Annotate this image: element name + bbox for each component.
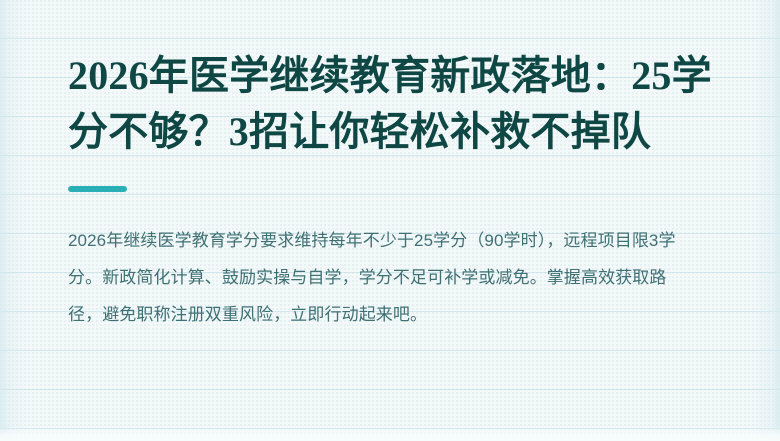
poster-body-text: 2026年继续医学教育学分要求维持每年不少于25学分（90学时），远程项目限3学… (68, 192, 696, 333)
poster-content: 2026年医学继续教育新政落地：25学分不够？3招让你轻松补救不掉队 2026年… (0, 0, 780, 333)
poster-title: 2026年医学继续教育新政落地：25学分不够？3招让你轻松补救不掉队 (68, 0, 712, 160)
bottom-fade-band (0, 427, 780, 441)
poster-card: 2026年医学继续教育新政落地：25学分不够？3招让你轻松补救不掉队 2026年… (0, 0, 780, 441)
